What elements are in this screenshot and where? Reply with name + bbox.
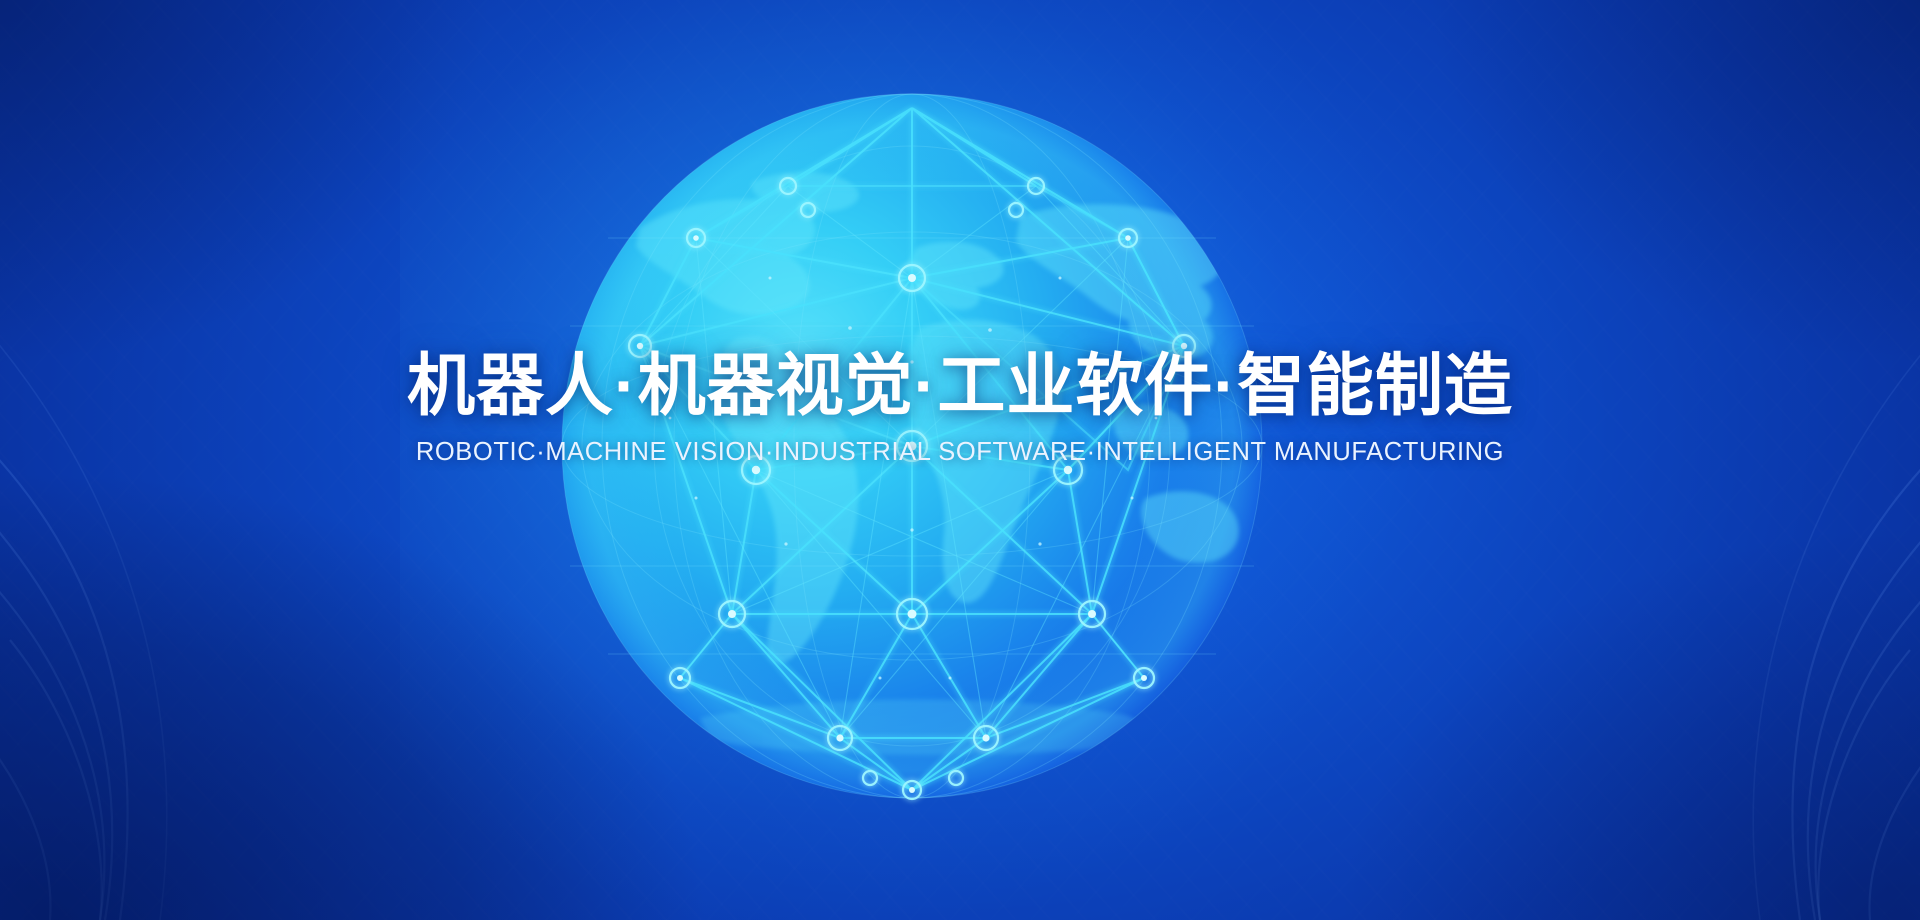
globe-network-wireframe [520, 78, 1304, 814]
globe-graphic [520, 78, 1304, 814]
hero-banner: 机器人·机器视觉·工业软件·智能制造 ROBOTIC·MACHINE VISIO… [0, 0, 1920, 920]
